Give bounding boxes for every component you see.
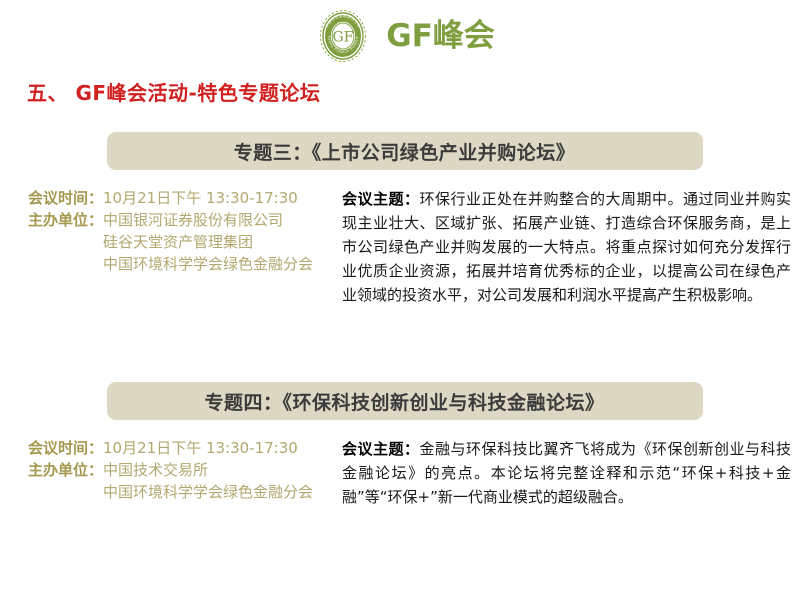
meeting-time-value: 10月21日下午 13:30-17:30 (103, 187, 298, 209)
forum-theme-column: 会议主题：环保行业正处在并购整合的大周期中。通过同业并购实现主业壮大、区域扩张、… (340, 187, 809, 307)
organizer-label: 主办单位： (28, 209, 103, 231)
forum-block-topic-four: 专题四：《环保科技创新创业与科技金融论坛》 会议时间： 10月21日下午 13:… (0, 382, 809, 509)
forum-theme-label: 会议主题： (342, 440, 420, 458)
meeting-time-label: 会议时间： (28, 187, 103, 209)
forum-banner-title: 专题三：《上市公司绿色产业并购论坛》 (234, 138, 576, 165)
organizer-row: 主办单位： 中国技术交易所 (28, 459, 340, 481)
page-title: 五、 GF峰会活动-特色专题论坛 (27, 77, 320, 106)
meeting-time-row: 会议时间： 10月21日下午 13:30-17:30 (28, 187, 340, 209)
meeting-time-label: 会议时间： (28, 437, 103, 459)
forum-theme-column: 会议主题：金融与环保科技比翼齐飞将成为《环保创新创业与科技金融论坛》的亮点。本论… (340, 437, 809, 509)
forum-theme-paragraph: 会议主题：金融与环保科技比翼齐飞将成为《环保创新创业与科技金融论坛》的亮点。本论… (342, 437, 791, 509)
forum-meta-column: 会议时间： 10月21日下午 13:30-17:30 主办单位： 中国银河证券股… (0, 187, 340, 275)
forum-body: 会议时间： 10月21日下午 13:30-17:30 主办单位： 中国技术交易所… (0, 437, 809, 509)
forum-block-topic-three: 专题三：《上市公司绿色产业并购论坛》 会议时间： 10月21日下午 13:30-… (0, 132, 809, 307)
organizer-value: 中国环境科学学会绿色金融分会 (103, 253, 313, 275)
organizer-value: 硅谷天堂资产管理集团 (103, 231, 253, 253)
organizer-row: 主办单位： 中国环境科学学会绿色金融分会 (28, 253, 340, 275)
forum-banner: 专题四：《环保科技创新创业与科技金融论坛》 (107, 382, 703, 420)
organizer-row: 主办单位： 中国环境科学学会绿色金融分会 (28, 481, 340, 503)
brand-lockup: GF 中国绿色金融峰会论坛 Green Finance Summit GF峰会 (314, 7, 495, 65)
forum-banner: 专题三：《上市公司绿色产业并购论坛》 (107, 132, 703, 170)
organizer-value: 中国环境科学学会绿色金融分会 (103, 481, 313, 503)
organizer-label: 主办单位： (28, 459, 103, 481)
organizer-row: 主办单位： 硅谷天堂资产管理集团 (28, 231, 340, 253)
forum-theme-label: 会议主题： (342, 190, 420, 208)
meeting-time-row: 会议时间： 10月21日下午 13:30-17:30 (28, 437, 340, 459)
meeting-time-value: 10月21日下午 13:30-17:30 (103, 437, 298, 459)
forum-meta-column: 会议时间： 10月21日下午 13:30-17:30 主办单位： 中国技术交易所… (0, 437, 340, 503)
gf-summit-emblem-icon: GF 中国绿色金融峰会论坛 Green Finance Summit (314, 7, 372, 65)
organizer-row: 主办单位： 中国银河证券股份有限公司 (28, 209, 340, 231)
forum-banner-title: 专题四：《环保科技创新创业与科技金融论坛》 (204, 388, 604, 415)
organizer-value: 中国银河证券股份有限公司 (103, 209, 283, 231)
forum-body: 会议时间： 10月21日下午 13:30-17:30 主办单位： 中国银河证券股… (0, 187, 809, 307)
svg-text:GF: GF (333, 30, 354, 46)
brand-title: GF峰会 (386, 21, 495, 52)
forum-theme-paragraph: 会议主题：环保行业正处在并购整合的大周期中。通过同业并购实现主业壮大、区域扩张、… (342, 187, 791, 307)
page-header: GF 中国绿色金融峰会论坛 Green Finance Summit GF峰会 (0, 0, 809, 72)
organizer-value: 中国技术交易所 (103, 459, 208, 481)
